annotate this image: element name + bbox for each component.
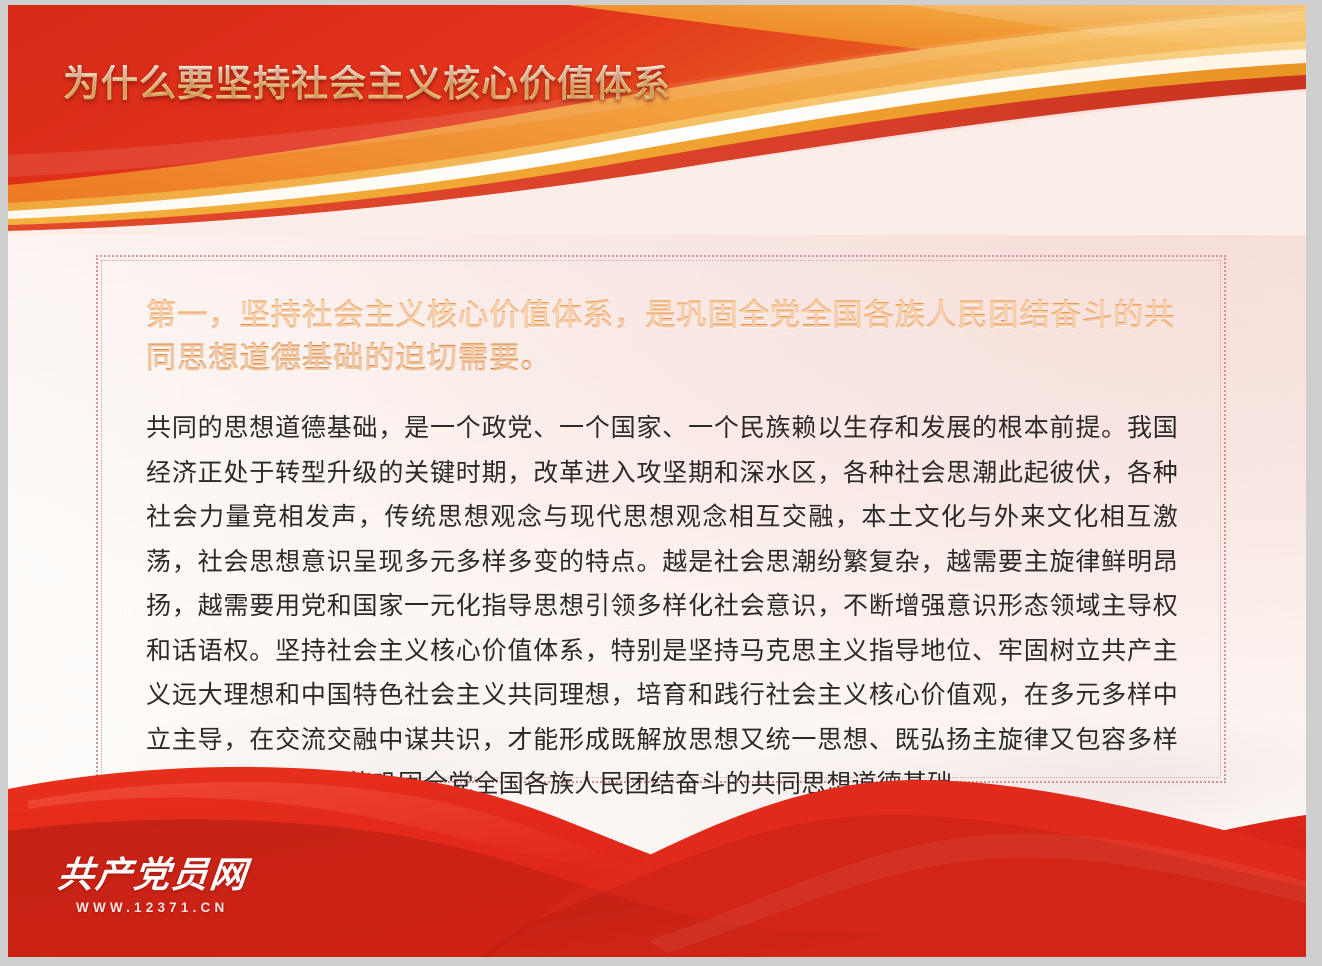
content-heading: 第一，坚持社会主义核心价值体系，是巩固全党全国各族人民团结奋斗的共同思想道德基础… xyxy=(146,295,1178,380)
footer-wave: 共产党员网 WWW.12371.CN xyxy=(8,727,1306,957)
banner-ribbon-graphic xyxy=(8,5,1306,235)
footer-wave-graphic xyxy=(8,727,1306,957)
page-title: 为什么要坚持社会主义核心价值体系 xyxy=(63,65,671,102)
header-banner: 为什么要坚持社会主义核心价值体系 xyxy=(8,5,1306,235)
slide-root: 为什么要坚持社会主义核心价值体系 第一，坚持社会主义核心价值体系，是巩固全党全国… xyxy=(0,0,1322,966)
logo-url: WWW.12371.CN xyxy=(76,900,276,915)
logo-wordmark: 共产党员网 xyxy=(56,857,280,893)
content-card: 第一，坚持社会主义核心价值体系，是巩固全党全国各族人民团结奋斗的共同思想道德基础… xyxy=(96,255,1226,783)
site-logo: 共产党员网 WWW.12371.CN xyxy=(56,857,276,915)
slide-frame: 为什么要坚持社会主义核心价值体系 第一，坚持社会主义核心价值体系，是巩固全党全国… xyxy=(8,5,1306,957)
